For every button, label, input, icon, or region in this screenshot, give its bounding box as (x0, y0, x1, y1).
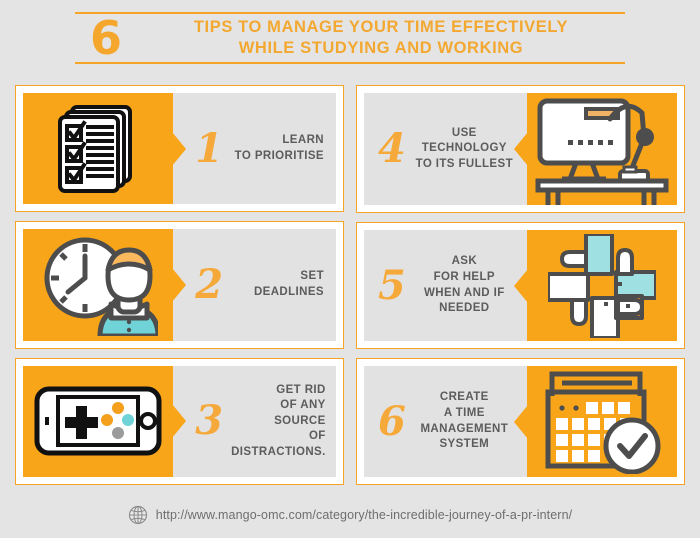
tip-3-caption: GET RID OF ANY SOURCE OF DISTRACTIONS. (231, 383, 326, 461)
infographic-page: 6 TIPS TO MANAGE YOUR TIME EFFECTIVELY W… (0, 0, 700, 538)
tip-2-caption-line1: SET (231, 269, 324, 285)
chevron-right-icon (172, 132, 186, 166)
tip-6-caption-line4: SYSTEM (412, 437, 517, 453)
chevron-left-icon (514, 269, 528, 303)
tip-card-5[interactable]: 5 ASK FOR HELP WHEN AND IF NEEDED (356, 222, 685, 349)
tip-2-media (23, 229, 173, 340)
globe-icon (128, 505, 148, 525)
tip-card-6[interactable]: 6 CREATE A TIME MANAGEMENT SYSTEM (356, 358, 685, 485)
chevron-left-icon (514, 405, 528, 439)
header-title-line2: WHILE STUDYING AND WORKING (137, 38, 625, 59)
tip-4-caption-line1: USE (412, 126, 517, 142)
tip-5-caption-line1: ASK (412, 254, 517, 270)
chevron-right-icon (172, 404, 186, 438)
tip-card-1[interactable]: 1 LEARN TO PRIORITISE (15, 85, 344, 212)
tips-column-left: 1 LEARN TO PRIORITISE (15, 85, 344, 485)
tip-4-caption: USE TECHNOLOGY TO ITS FULLEST (412, 126, 517, 173)
tip-3-media (23, 366, 173, 477)
tip-card-2[interactable]: 2 SET DEADLINES (15, 221, 344, 348)
tip-4-info: 4 USE TECHNOLOGY TO ITS FULLEST (364, 93, 527, 205)
tip-5-caption-line2: FOR HELP (412, 270, 517, 286)
tip-6-number: 6 (378, 402, 406, 442)
tip-3-number: 3 (195, 401, 223, 441)
header-rule-bottom (75, 62, 625, 64)
footer: http://www.mango-omc.com/category/the-in… (0, 495, 700, 535)
footer-url[interactable]: http://www.mango-omc.com/category/the-in… (156, 508, 572, 522)
tip-6-caption-line2: A TIME (412, 406, 517, 422)
tip-1-info: 1 LEARN TO PRIORITISE (173, 93, 336, 204)
checklist-icon (46, 101, 150, 197)
tip-5-caption: ASK FOR HELP WHEN AND IF NEEDED (412, 254, 517, 316)
header-title-line1: TIPS TO MANAGE YOUR TIME EFFECTIVELY (137, 17, 625, 38)
chevron-left-icon (514, 132, 528, 166)
tip-4-number: 4 (378, 129, 406, 169)
tip-1-caption-line2: TO PRIORITISE (231, 149, 324, 165)
teamwork-hands-icon (548, 234, 656, 338)
tip-2-info: 2 SET DEADLINES (173, 229, 336, 340)
phone-game-icon (34, 386, 162, 456)
tip-6-info: 6 CREATE A TIME MANAGEMENT SYSTEM (364, 366, 527, 477)
tip-3-caption-line2: OF ANY SOURCE (231, 398, 326, 429)
clock-person-icon (38, 234, 158, 336)
tip-card-4[interactable]: 4 USE TECHNOLOGY TO ITS FULLEST (356, 85, 685, 213)
tip-2-caption: SET DEADLINES (231, 269, 324, 300)
tip-6-caption-line3: MANAGEMENT (412, 422, 517, 438)
tips-column-right: 4 USE TECHNOLOGY TO ITS FULLEST (356, 85, 685, 485)
header-title: TIPS TO MANAGE YOUR TIME EFFECTIVELY WHI… (137, 17, 625, 59)
desk-monitor-lamp-icon (532, 93, 672, 205)
tip-card-3[interactable]: 3 GET RID OF ANY SOURCE OF DISTRACTIONS. (15, 358, 344, 485)
tip-1-caption-line1: LEARN (231, 133, 324, 149)
tip-6-caption: CREATE A TIME MANAGEMENT SYSTEM (412, 390, 517, 452)
header-number: 6 (75, 15, 137, 61)
tip-5-number: 5 (378, 266, 406, 306)
tip-3-info: 3 GET RID OF ANY SOURCE OF DISTRACTIONS. (173, 366, 337, 477)
tip-2-caption-line2: DEADLINES (231, 285, 324, 301)
tip-1-media (23, 93, 173, 204)
calendar-check-icon (540, 370, 664, 474)
tip-6-media (527, 366, 677, 477)
tip-5-media (527, 230, 677, 341)
tip-5-info: 5 ASK FOR HELP WHEN AND IF NEEDED (364, 230, 527, 341)
tip-4-media (527, 93, 677, 205)
tip-1-number: 1 (195, 129, 223, 169)
tip-5-caption-line4: NEEDED (412, 301, 517, 317)
tip-5-caption-line3: WHEN AND IF (412, 286, 517, 302)
header: 6 TIPS TO MANAGE YOUR TIME EFFECTIVELY W… (0, 0, 700, 72)
chevron-right-icon (172, 268, 186, 302)
tips-grid: 1 LEARN TO PRIORITISE (15, 85, 685, 485)
tip-1-caption: LEARN TO PRIORITISE (231, 133, 324, 164)
tip-2-number: 2 (195, 265, 223, 305)
tip-6-caption-line1: CREATE (412, 390, 517, 406)
tip-3-caption-line3: OF DISTRACTIONS. (231, 429, 326, 460)
tip-4-caption-line3: TO ITS FULLEST (412, 157, 517, 173)
tip-3-caption-line1: GET RID (231, 383, 326, 399)
tip-4-caption-line2: TECHNOLOGY (412, 141, 517, 157)
